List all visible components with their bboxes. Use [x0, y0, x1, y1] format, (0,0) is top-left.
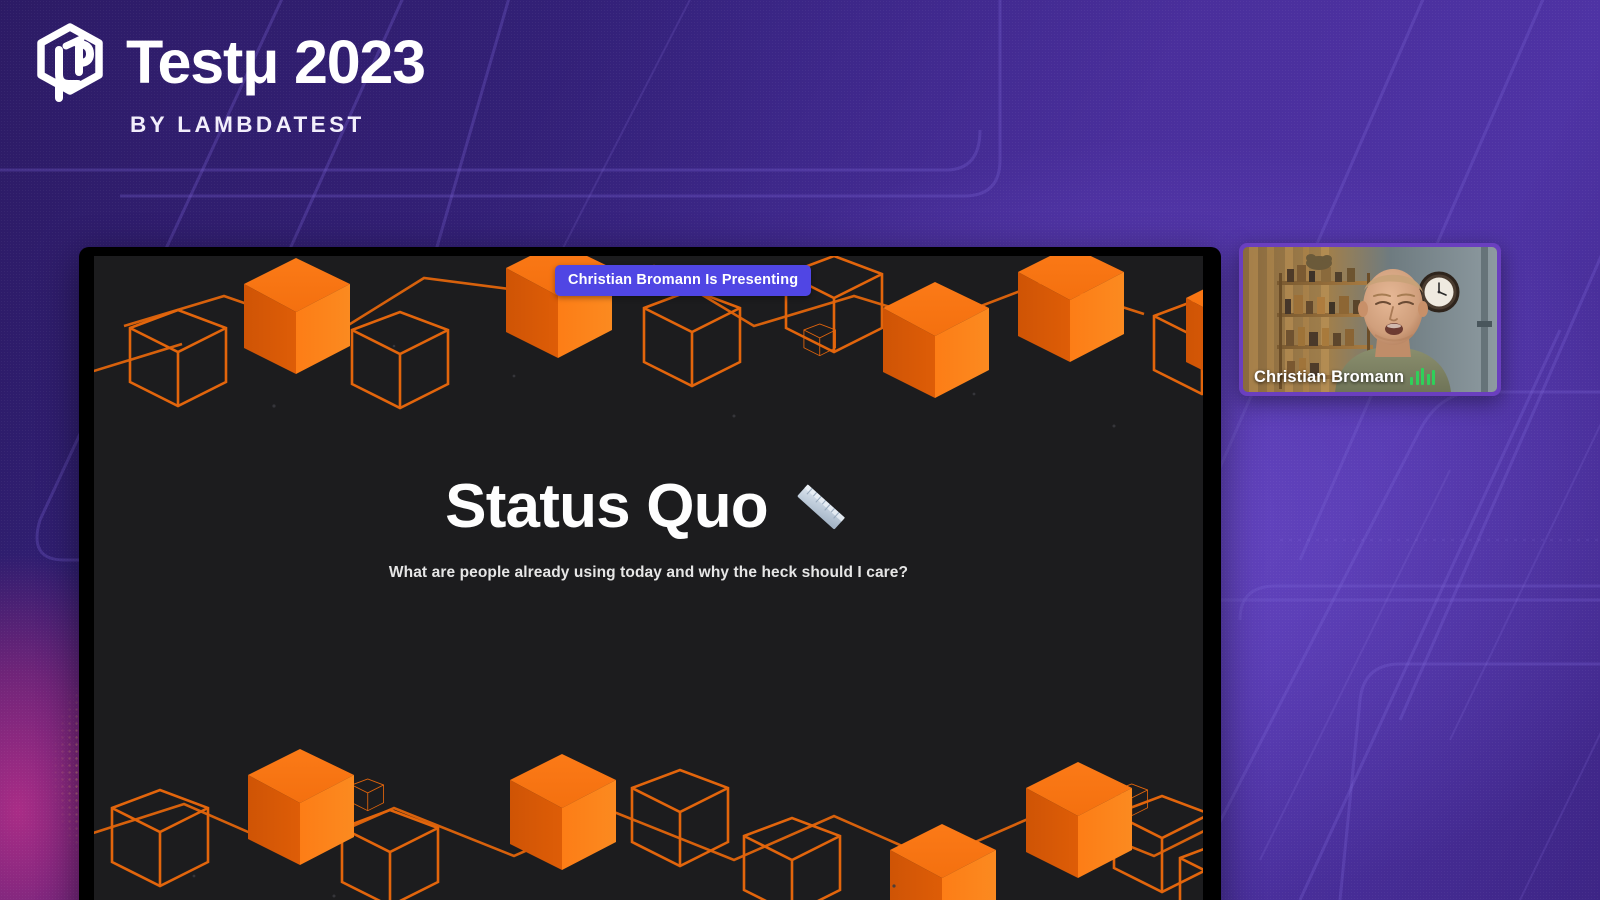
event-branding: Testμ 2023 BY LAMBDATEST [32, 22, 425, 138]
participant-name: Christian Bromann [1254, 369, 1404, 386]
participant-name-overlay: Christian Bromann [1254, 368, 1435, 385]
participant-video-feed[interactable]: Christian Bromann [1243, 247, 1497, 392]
event-subtitle: BY LAMBDATEST [130, 112, 425, 138]
slide-subtitle: What are people already using today and … [94, 564, 1203, 582]
screenshot-stage: Testμ 2023 BY LAMBDATEST [0, 0, 1600, 900]
slide-title-row: Status Quo [445, 474, 852, 540]
participant-video-tile[interactable]: Christian Bromann [1239, 243, 1501, 396]
audio-level-bars-icon [1410, 368, 1435, 385]
testmu-hex-mu-logo-icon [32, 22, 108, 102]
shared-screen-monitor: Status Quo [79, 247, 1221, 900]
page-title: Status Quo [445, 474, 768, 540]
presenting-status-badge: Christian Bromann Is Presenting [555, 265, 811, 296]
slide-text-block: Status Quo [94, 474, 1203, 582]
event-title: Testμ 2023 [126, 32, 425, 93]
brand-row: Testμ 2023 [32, 22, 425, 102]
shared-screen-content[interactable]: Status Quo [94, 256, 1203, 900]
straight-ruler-emoji [790, 476, 852, 538]
